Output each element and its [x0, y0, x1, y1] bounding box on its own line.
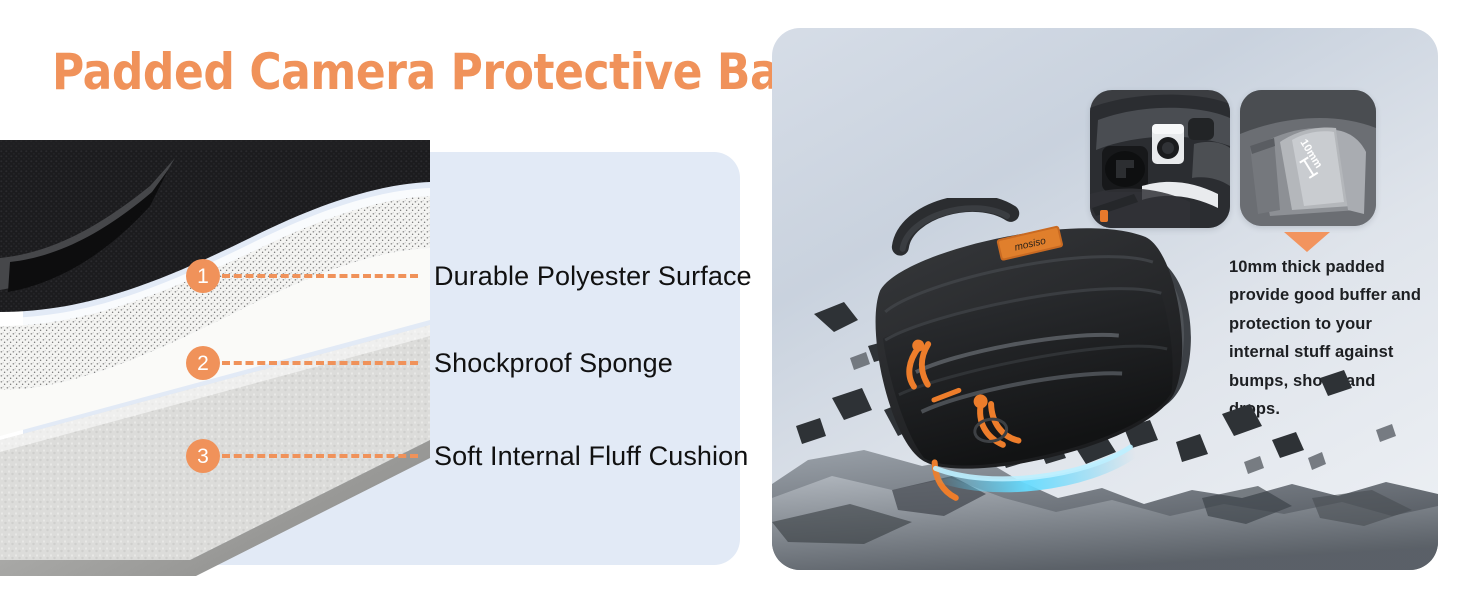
leader-line-2 — [222, 361, 418, 365]
callout-label-1: Durable Polyester Surface — [434, 261, 752, 292]
callout-badge-1: 1 — [186, 259, 220, 293]
leader-line-1 — [222, 274, 418, 278]
callout-label-2: Shockproof Sponge — [434, 348, 673, 379]
leader-line-3 — [222, 454, 418, 458]
callout-row-1: 1 Durable Polyester Surface — [186, 258, 752, 294]
callout-row-3: 3 Soft Internal Fluff Cushion — [186, 438, 748, 474]
infographic-canvas: Padded Camera Protective Bag — [0, 0, 1464, 600]
page-title: Padded Camera Protective Bag — [52, 46, 810, 99]
callout-badge-2: 2 — [186, 346, 220, 380]
callout-row-2: 2 Shockproof Sponge — [186, 345, 673, 381]
callout-label-3: Soft Internal Fluff Cushion — [434, 441, 748, 472]
product-showcase-panel: 10mm 10mm thick padded provide good buff… — [772, 28, 1438, 570]
callout-badge-3: 3 — [186, 439, 220, 473]
camera-bag-on-rocks: mosiso — [772, 198, 1438, 570]
